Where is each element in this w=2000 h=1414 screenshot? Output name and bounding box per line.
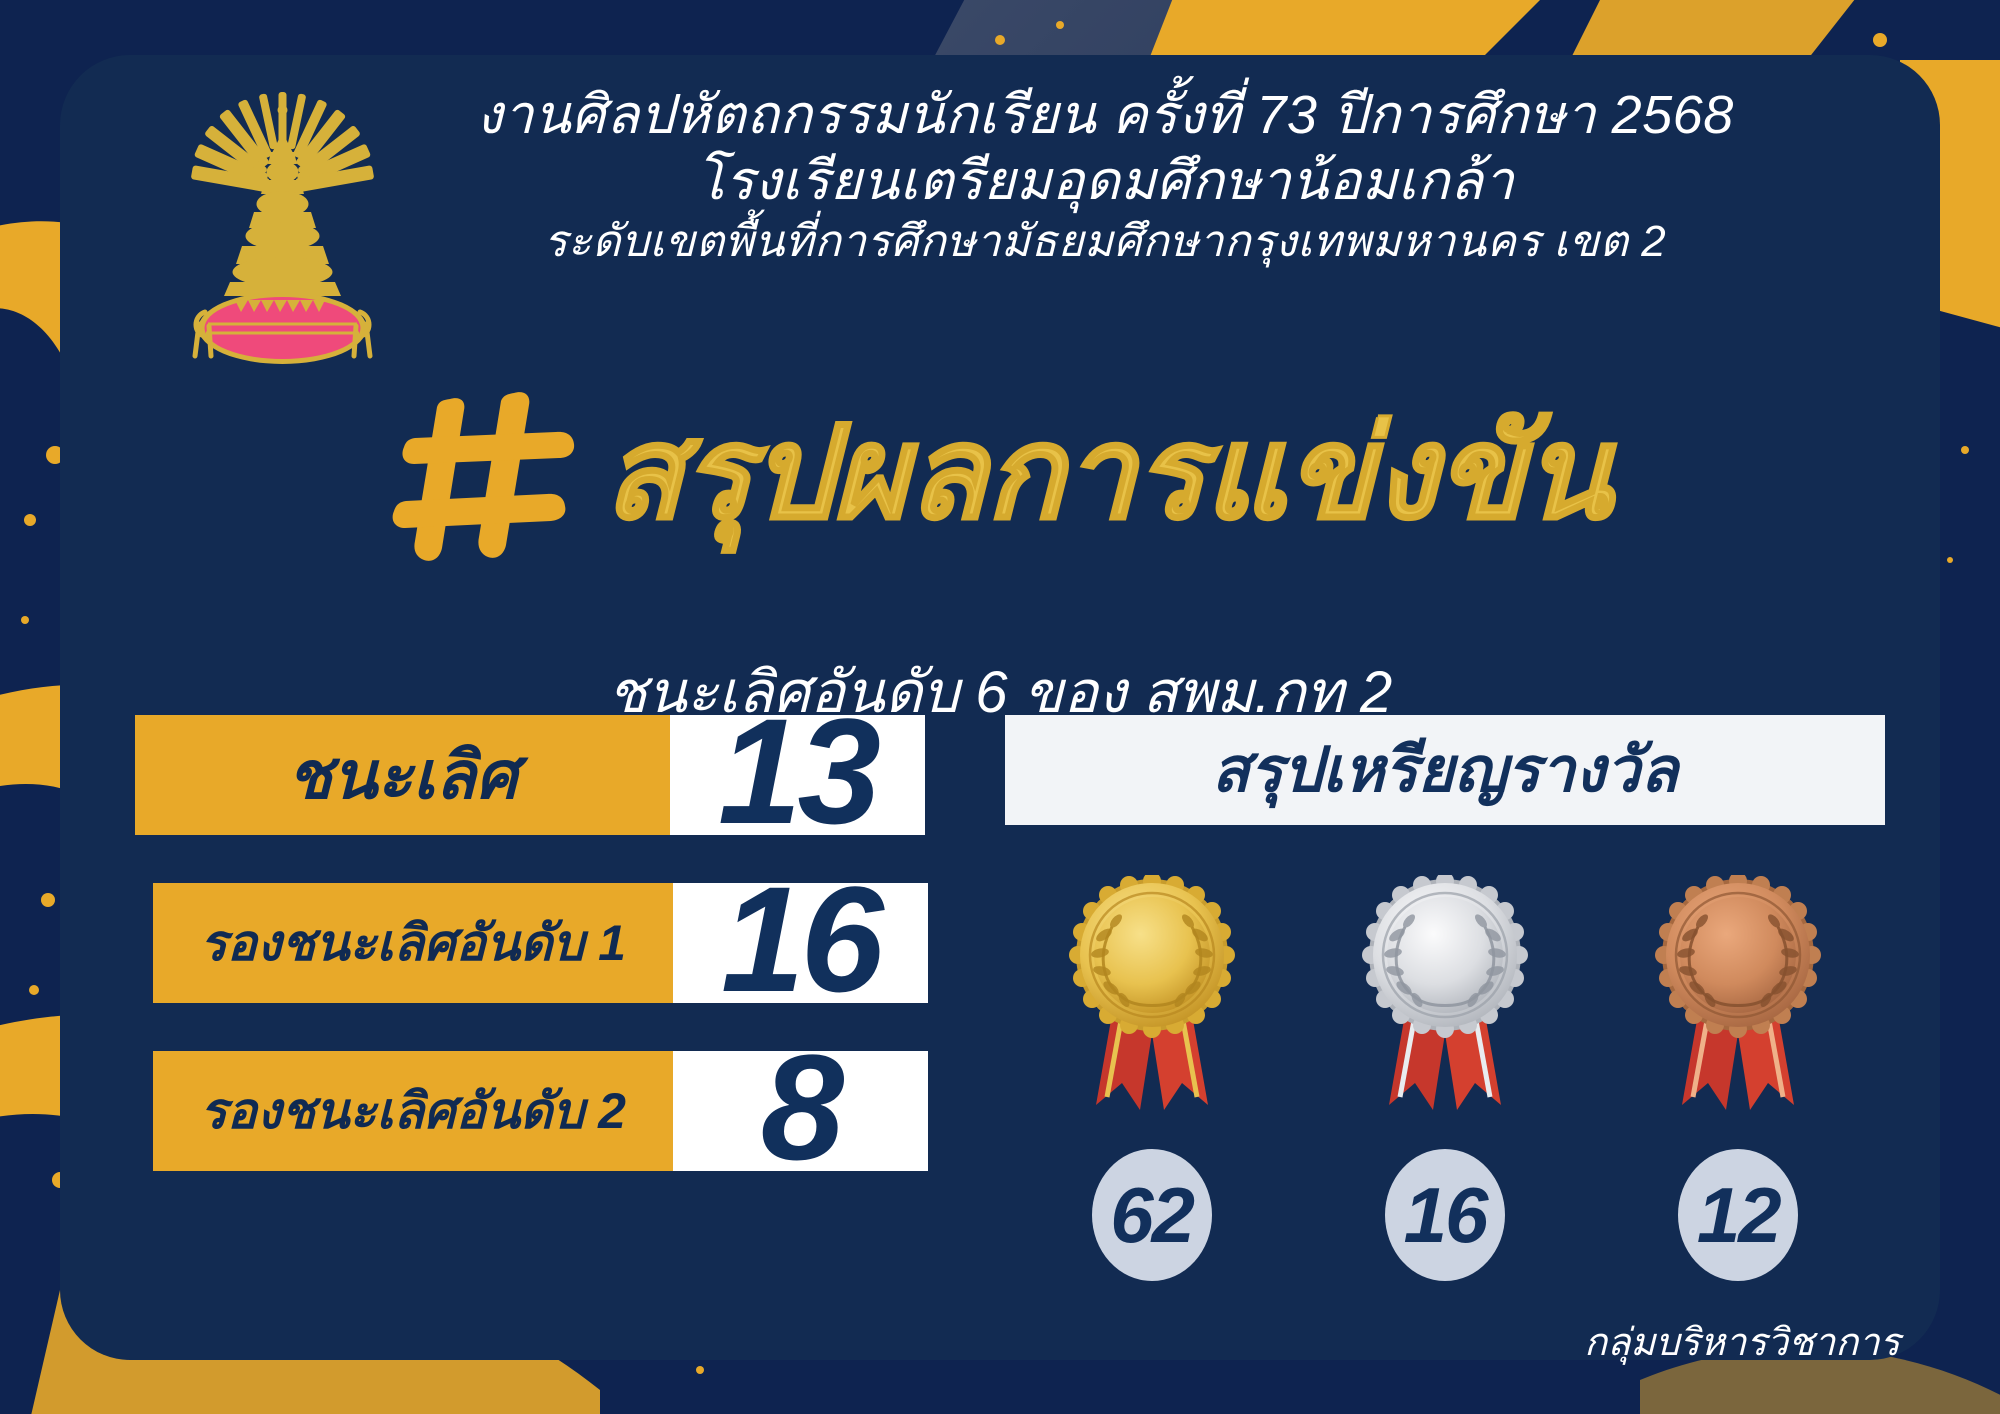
rank-value-box: 16 [673, 883, 928, 1003]
rank-value-text: 8 [761, 1052, 840, 1163]
poster-canvas: งานศิลปหัตถกรรมนักเรียน ครั้งที่ 73 ปีกา… [0, 0, 2000, 1414]
gold-medal-icon [1052, 875, 1252, 1135]
silver-medal-icon [1345, 875, 1545, 1135]
rank-value-box: 13 [670, 715, 925, 835]
gold-medal-count: 62 [1092, 1149, 1212, 1281]
rank-summary-panel: ชนะเลิศ 13 รองชนะเลิศอันดับ 1 16 รองชนะเ… [135, 715, 965, 1171]
bronze-medal-icon [1638, 875, 1838, 1135]
medal-panel-header: สรุปเหรียญรางวัล [1005, 715, 1885, 825]
rank-label-text: รองชนะเลิศอันดับ 1 [200, 904, 626, 983]
rank-label-text: ชนะเลิศ [287, 723, 517, 828]
rank-label-chip: รองชนะเลิศอันดับ 2 [153, 1051, 673, 1171]
poster-card: งานศิลปหัตถกรรมนักเรียน ครั้งที่ 73 ปีกา… [60, 55, 1940, 1360]
footer-credit: กลุ่มบริหารวิชาการ [1584, 1311, 1900, 1372]
rank-label-text: รองชนะเลิศอันดับ 2 [200, 1072, 626, 1151]
rank-label-chip: ชนะเลิศ [135, 715, 670, 835]
main-title-row: สรุปผลการแข่งขัน [60, 385, 1940, 575]
page-title: สรุปผลการแข่งขัน [604, 410, 1611, 538]
header-line-2: โรงเรียนเตรียมอุดมศึกษาน้อมเกล้า [390, 149, 1820, 215]
rank-value-text: 16 [721, 884, 880, 995]
medal-item-gold: 62 [1027, 875, 1277, 1281]
medal-item-silver: 16 [1320, 875, 1570, 1281]
medal-panel-title: สรุปเหรียญรางวัล [1212, 721, 1678, 819]
rank-label-chip: รองชนะเลิศอันดับ 1 [153, 883, 673, 1003]
thai-school-crest-icon [175, 80, 390, 370]
header-line-1: งานศิลปหัตถกรรมนักเรียน ครั้งที่ 73 ปีกา… [390, 83, 1820, 149]
rank-row: ชนะเลิศ 13 [135, 715, 965, 835]
header-line-3: ระดับเขตพื้นที่การศึกษามัธยมศึกษากรุงเทพ… [390, 215, 1820, 269]
header-text-block: งานศิลปหัตถกรรมนักเรียน ครั้งที่ 73 ปีกา… [390, 83, 1820, 268]
medal-grid: 62 [1005, 875, 1885, 1281]
medal-item-bronze: 12 [1613, 875, 1863, 1281]
hashtag-brush-icon [388, 385, 578, 575]
rank-row: รองชนะเลิศอันดับ 1 16 [135, 883, 965, 1003]
medal-summary-panel: สรุปเหรียญรางวัล [1005, 715, 1885, 1281]
bronze-medal-count: 12 [1678, 1149, 1798, 1281]
rank-value-text: 13 [718, 716, 877, 827]
rank-row: รองชนะเลิศอันดับ 2 8 [135, 1051, 965, 1171]
rank-value-box: 8 [673, 1051, 928, 1171]
silver-medal-count: 16 [1385, 1149, 1505, 1281]
